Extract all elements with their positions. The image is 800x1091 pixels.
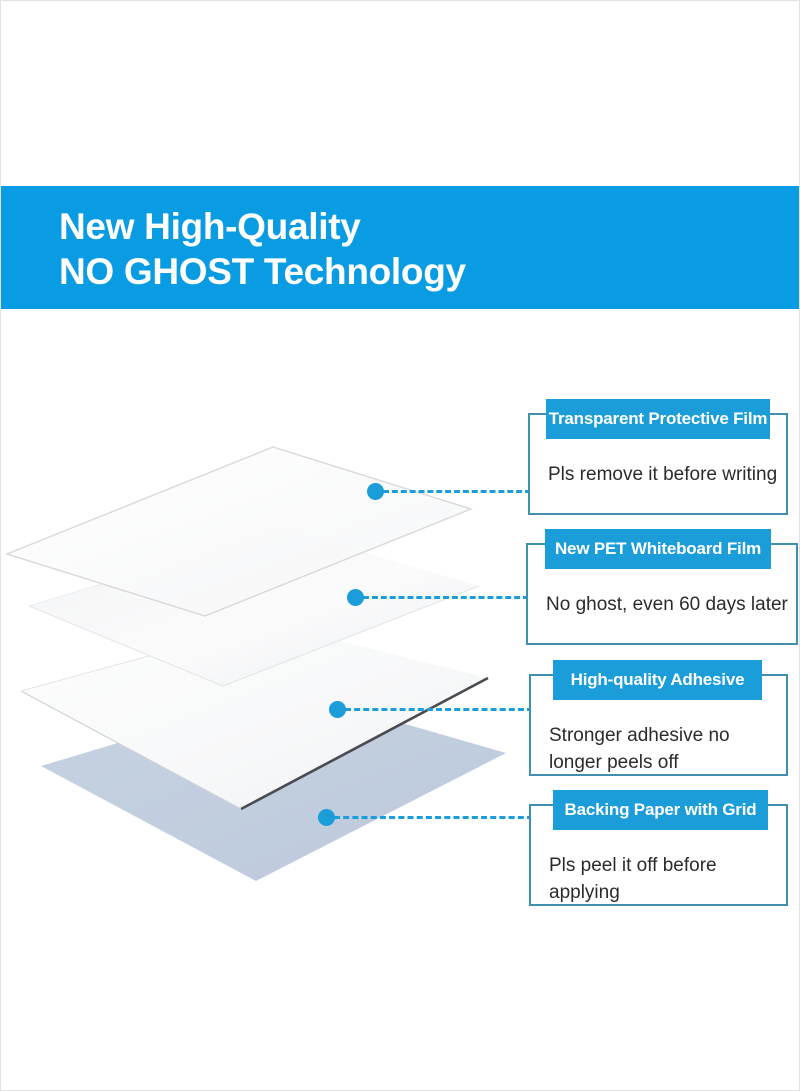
callout-title-tab: Transparent Protective Film: [546, 399, 770, 439]
connector-line-4: [334, 816, 533, 819]
headline-line-1: New High-Quality: [59, 204, 800, 249]
callout-title-tab: Backing Paper with Grid: [553, 790, 768, 830]
callout-title: New PET Whiteboard Film: [555, 539, 761, 559]
callout-high-quality-adhesive: High-quality Adhesive Stronger adhesive …: [529, 660, 788, 776]
callout-title: High-quality Adhesive: [571, 670, 745, 690]
callout-body: Stronger adhesive no longer peels off: [549, 722, 778, 776]
callout-body: Pls remove it before writing: [548, 461, 778, 488]
callout-title-tab: New PET Whiteboard Film: [545, 529, 771, 569]
callout-transparent-protective-film: Transparent Protective Film Pls remove i…: [528, 399, 788, 515]
callout-title: Backing Paper with Grid: [565, 800, 757, 820]
callout-body: No ghost, even 60 days later: [546, 591, 788, 618]
connector-line-3: [345, 708, 533, 711]
headline-line-2: NO GHOST Technology: [59, 249, 800, 294]
infographic-page: New High-Quality NO GHOST Technology: [0, 0, 800, 1091]
connector-dot-3: [329, 701, 346, 718]
callout-title-tab: High-quality Adhesive: [553, 660, 762, 700]
callout-body: Pls peel it off before applying: [549, 852, 778, 906]
callout-new-pet-whiteboard-film: New PET Whiteboard Film No ghost, even 6…: [526, 529, 798, 645]
connector-dot-1: [367, 483, 384, 500]
connector-dot-2: [347, 589, 364, 606]
layer-stack-diagram: [1, 401, 521, 901]
header-banner: New High-Quality NO GHOST Technology: [1, 186, 800, 309]
connector-line-2: [363, 596, 529, 599]
callout-title: Transparent Protective Film: [549, 409, 768, 429]
header-banner-text: New High-Quality NO GHOST Technology: [59, 204, 800, 294]
connector-dot-4: [318, 809, 335, 826]
callout-backing-paper-with-grid: Backing Paper with Grid Pls peel it off …: [529, 790, 788, 906]
connector-line-1: [383, 490, 531, 493]
